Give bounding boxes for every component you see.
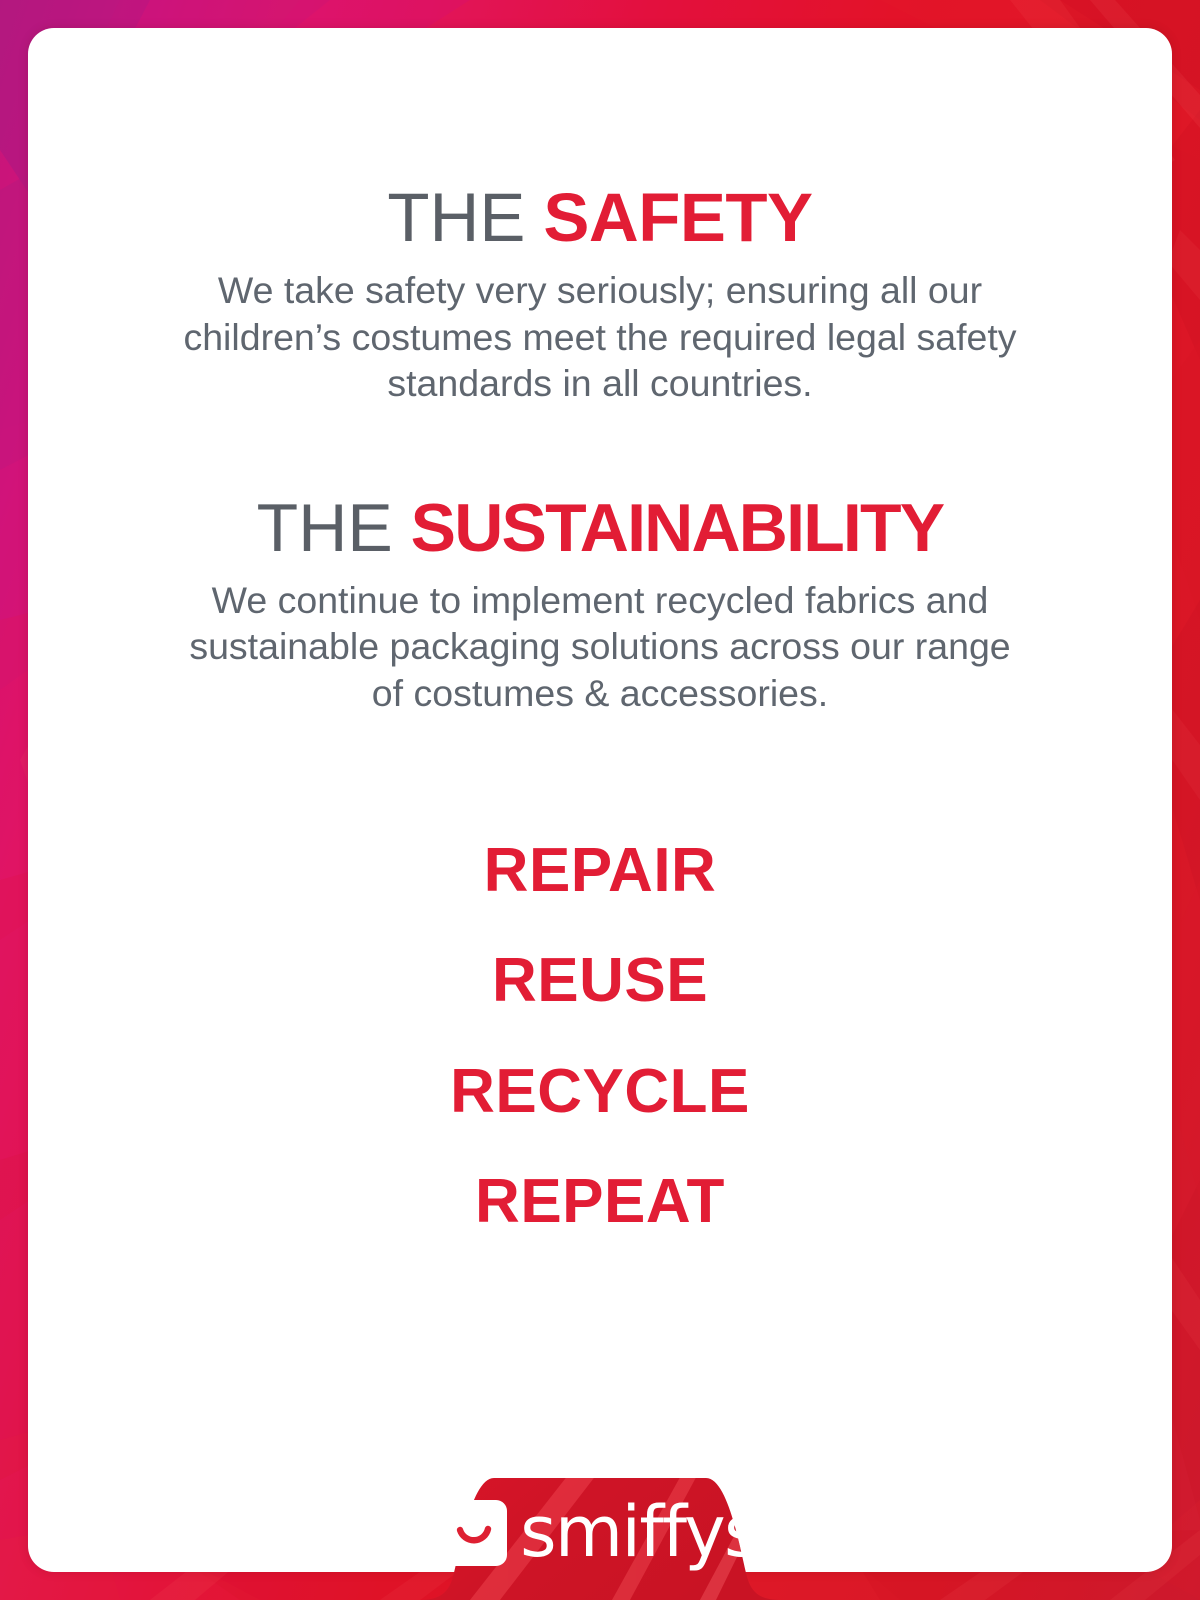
mantra-block: REPAIR REUSE RECYCLE REPEAT <box>28 816 1172 1257</box>
heading-safety-highlight: SAFETY <box>543 179 812 256</box>
heading-safety-prefix: THE <box>387 179 525 256</box>
heading-safety: THESAFETY <box>150 182 1050 253</box>
mantra-line-reuse: REUSE <box>28 926 1172 1036</box>
section-spacer <box>28 407 1172 493</box>
heading-sustainability: THESUSTAINABILITY <box>150 493 1050 563</box>
logo-wordmark-wrap: smiffys ™ <box>520 1502 759 1564</box>
logo-wordmark: smiffys <box>520 1491 759 1573</box>
mantra-line-repair: REPAIR <box>28 816 1172 926</box>
trademark-symbol: ™ <box>769 1504 786 1519</box>
section-safety: THESAFETY We take safety very seriously;… <box>150 182 1050 407</box>
heading-sustainability-highlight: SUSTAINABILITY <box>411 490 944 566</box>
logo-lockup: smiffys ™ <box>0 1490 1200 1576</box>
body-sustainability: We continue to implement recycled fabric… <box>177 577 1023 717</box>
poster-content: THESAFETY We take safety very seriously;… <box>28 0 1172 1258</box>
mantra-line-repeat: REPEAT <box>28 1147 1172 1257</box>
section-sustainability: THESUSTAINABILITY We continue to impleme… <box>150 493 1050 717</box>
body-safety: We take safety very seriously; ensuring … <box>165 267 1035 407</box>
mantra-line-recycle: RECYCLE <box>28 1037 1172 1147</box>
heading-sustainability-prefix: THE <box>257 490 393 566</box>
smile-icon <box>441 1500 507 1566</box>
poster: THESAFETY We take safety very seriously;… <box>0 0 1200 1600</box>
